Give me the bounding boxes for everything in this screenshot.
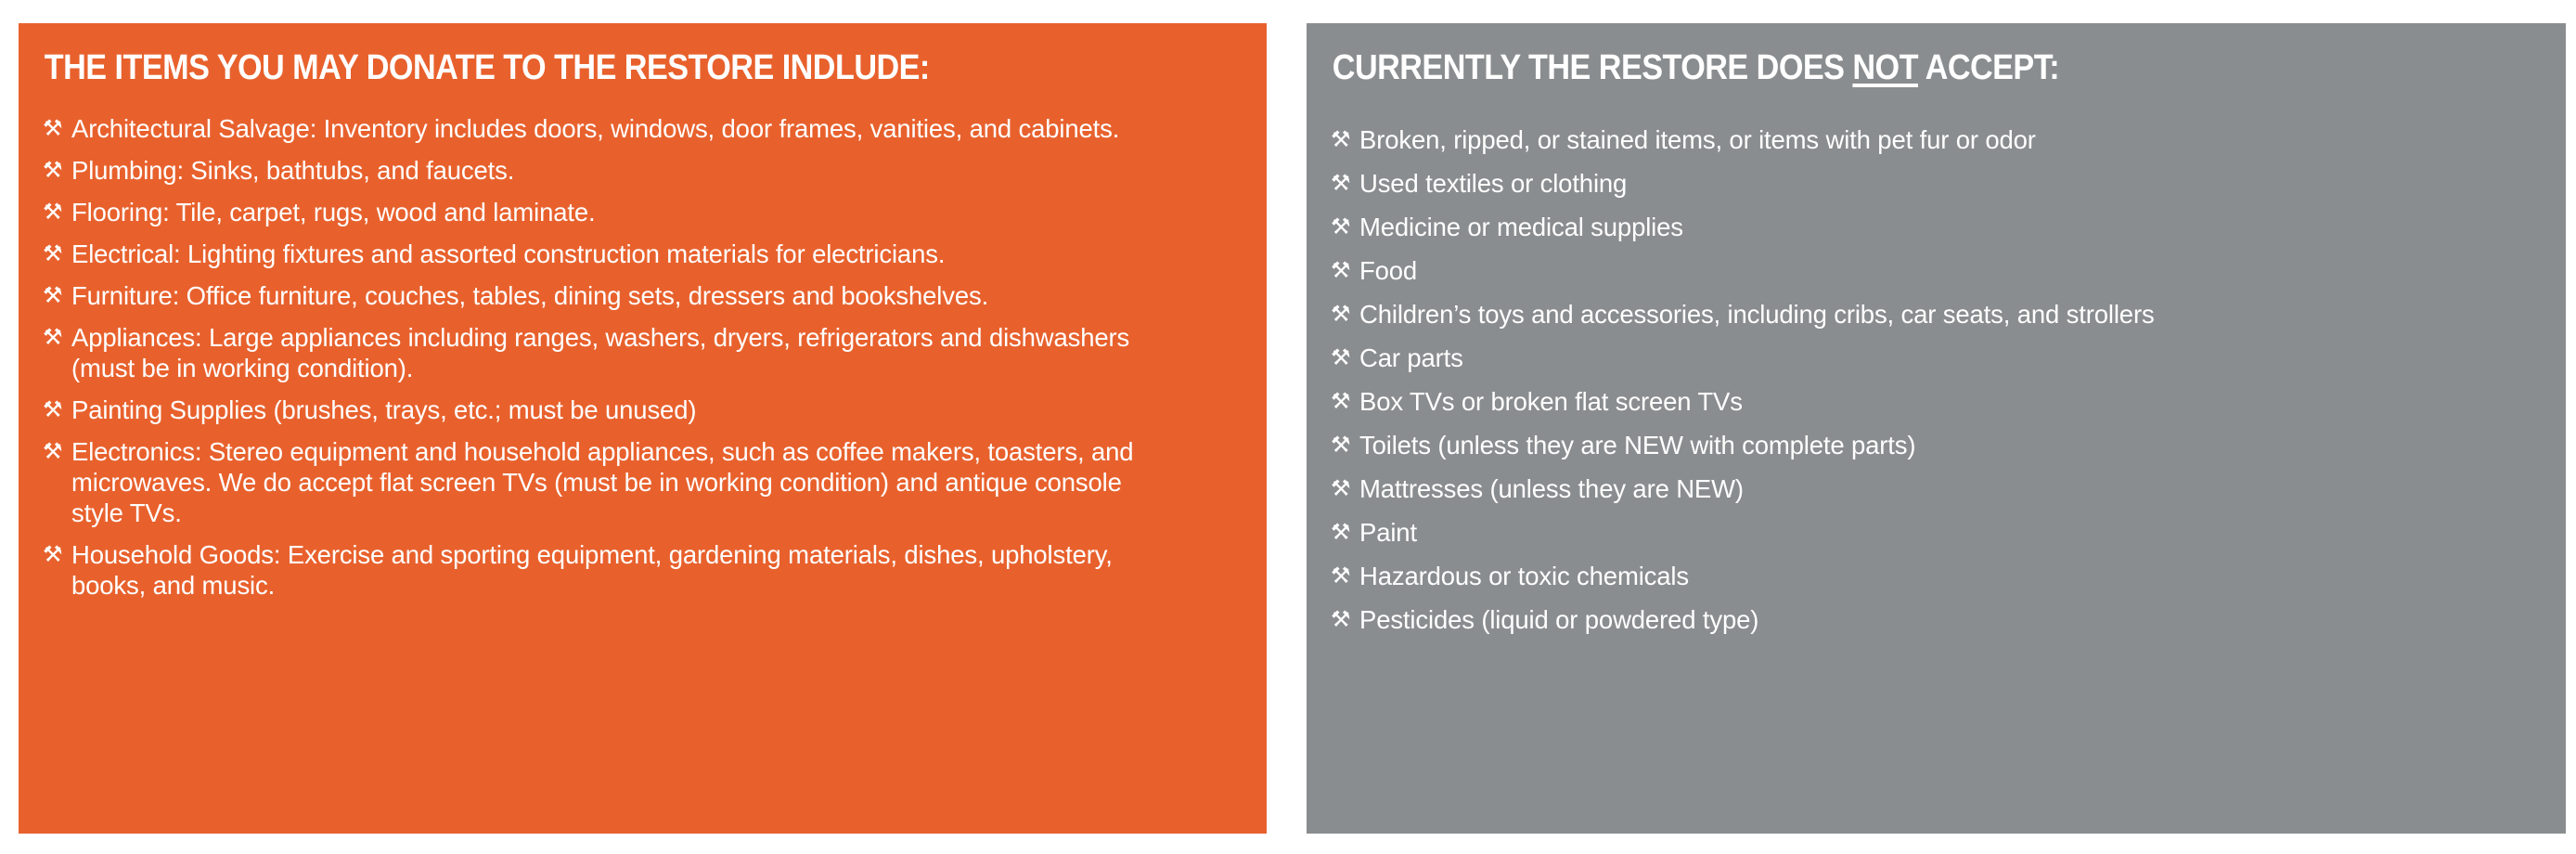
list-item-label: Hazardous or toxic chemicals [1359, 561, 2542, 591]
crossed-hammers-icon: ⚒ [43, 395, 65, 425]
list-item-label: Used textiles or clothing [1359, 168, 2542, 199]
list-item: ⚒Appliances: Large appliances including … [43, 322, 1166, 383]
crossed-hammers-icon: ⚒ [1331, 255, 1353, 286]
list-item: ⚒Car parts [1331, 343, 2542, 373]
list-item-label: Paint [1359, 517, 2542, 548]
list-item: ⚒Paint [1331, 517, 2542, 548]
list-item-label: Plumbing: Sinks, bathtubs, and faucets. [71, 155, 1166, 186]
crossed-hammers-icon: ⚒ [43, 197, 65, 227]
list-item-label: Architectural Salvage: Inventory include… [71, 113, 1166, 144]
accepted-items-title: THE ITEMS YOU MAY DONATE TO THE RESTORE … [43, 44, 1123, 89]
crossed-hammers-icon: ⚒ [43, 280, 65, 311]
list-item-label: Appliances: Large appliances including r… [71, 322, 1166, 383]
list-item: ⚒Architectural Salvage: Inventory includ… [43, 113, 1166, 144]
rejected-items-panel: CURRENTLY THE RESTORE DOES NOT ACCEPT: ⚒… [1307, 23, 2566, 834]
list-item-label: Electronics: Stereo equipment and househ… [71, 436, 1166, 528]
list-item: ⚒Hazardous or toxic chemicals [1331, 561, 2542, 591]
list-item: ⚒Mattresses (unless they are NEW) [1331, 473, 2542, 504]
list-item-label: Furniture: Office furniture, couches, ta… [71, 280, 1166, 311]
crossed-hammers-icon: ⚒ [43, 113, 65, 144]
accepted-items-list: ⚒Architectural Salvage: Inventory includ… [43, 113, 1243, 601]
list-item: ⚒Used textiles or clothing [1331, 168, 2542, 199]
list-item: ⚒Broken, ripped, or stained items, or it… [1331, 124, 2542, 155]
list-item-label: Painting Supplies (brushes, trays, etc.;… [71, 395, 1166, 425]
rejected-items-list: ⚒Broken, ripped, or stained items, or it… [1331, 124, 2542, 635]
donation-guidelines-board: THE ITEMS YOU MAY DONATE TO THE RESTORE … [0, 0, 2576, 854]
list-item: ⚒Children’s toys and accessories, includ… [1331, 299, 2542, 330]
crossed-hammers-icon: ⚒ [1331, 212, 1353, 242]
crossed-hammers-icon: ⚒ [43, 322, 65, 353]
rejected-title-before: CURRENTLY THE RESTORE DOES [1333, 48, 1853, 87]
list-item-label: Mattresses (unless they are NEW) [1359, 473, 2542, 504]
list-item: ⚒Pesticides (liquid or powdered type) [1331, 604, 2542, 635]
list-item: ⚒Electronics: Stereo equipment and house… [43, 436, 1166, 528]
rejected-items-title: CURRENTLY THE RESTORE DOES NOT ACCEPT: [1331, 44, 2421, 89]
crossed-hammers-icon: ⚒ [1331, 473, 1353, 504]
list-item: ⚒Food [1331, 255, 2542, 286]
crossed-hammers-icon: ⚒ [1331, 604, 1353, 635]
crossed-hammers-icon: ⚒ [1331, 299, 1353, 330]
accepted-items-panel: THE ITEMS YOU MAY DONATE TO THE RESTORE … [19, 23, 1267, 834]
list-item-label: Toilets (unless they are NEW with comple… [1359, 430, 2542, 460]
list-item: ⚒Electrical: Lighting fixtures and assor… [43, 239, 1166, 269]
list-item-label: Broken, ripped, or stained items, or ite… [1359, 124, 2542, 155]
crossed-hammers-icon: ⚒ [1331, 386, 1353, 417]
crossed-hammers-icon: ⚒ [1331, 430, 1353, 460]
list-item-label: Box TVs or broken flat screen TVs [1359, 386, 2542, 417]
list-item: ⚒Furniture: Office furniture, couches, t… [43, 280, 1166, 311]
list-item-label: Children’s toys and accessories, includi… [1359, 299, 2542, 330]
list-item: ⚒Flooring: Tile, carpet, rugs, wood and … [43, 197, 1166, 227]
crossed-hammers-icon: ⚒ [1331, 168, 1353, 199]
crossed-hammers-icon: ⚒ [43, 539, 65, 570]
crossed-hammers-icon: ⚒ [43, 239, 65, 269]
list-item-label: Car parts [1359, 343, 2542, 373]
list-item-label: Flooring: Tile, carpet, rugs, wood and l… [71, 197, 1166, 227]
crossed-hammers-icon: ⚒ [1331, 517, 1353, 548]
list-item: ⚒Household Goods: Exercise and sporting … [43, 539, 1166, 601]
crossed-hammers-icon: ⚒ [43, 155, 65, 186]
rejected-title-after: ACCEPT: [1918, 48, 2059, 87]
crossed-hammers-icon: ⚒ [1331, 124, 1353, 155]
list-item-label: Pesticides (liquid or powdered type) [1359, 604, 2542, 635]
list-item: ⚒Plumbing: Sinks, bathtubs, and faucets. [43, 155, 1166, 186]
crossed-hammers-icon: ⚒ [1331, 343, 1353, 373]
list-item-label: Electrical: Lighting fixtures and assort… [71, 239, 1166, 269]
list-item-label: Household Goods: Exercise and sporting e… [71, 539, 1166, 601]
rejected-title-emphasis: NOT [1852, 48, 1918, 87]
list-item: ⚒Box TVs or broken flat screen TVs [1331, 386, 2542, 417]
list-item: ⚒Painting Supplies (brushes, trays, etc.… [43, 395, 1166, 425]
crossed-hammers-icon: ⚒ [1331, 561, 1353, 591]
crossed-hammers-icon: ⚒ [43, 436, 65, 467]
list-item-label: Food [1359, 255, 2542, 286]
list-item: ⚒Toilets (unless they are NEW with compl… [1331, 430, 2542, 460]
list-item: ⚒Medicine or medical supplies [1331, 212, 2542, 242]
list-item-label: Medicine or medical supplies [1359, 212, 2542, 242]
